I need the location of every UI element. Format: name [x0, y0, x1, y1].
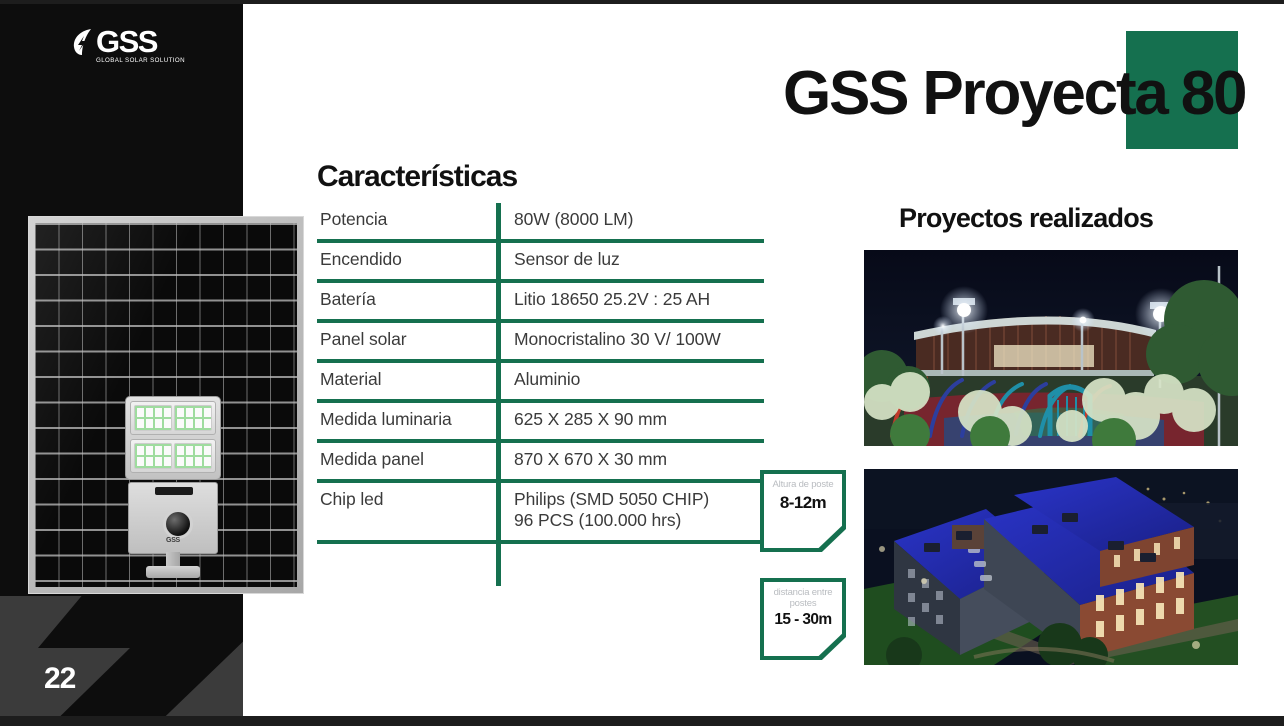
park-playground-night-photo: [864, 250, 1238, 446]
badge-label: distancia entre postes: [764, 588, 842, 609]
spec-key: Chip led: [317, 483, 496, 519]
logo-wordmark: GSS: [96, 28, 157, 56]
spec-key: Batería: [317, 283, 496, 319]
badge-label: Altura de poste: [773, 480, 834, 491]
spec-key: Encendido: [317, 243, 496, 279]
column-divider: [496, 243, 501, 279]
slide-canvas: GSS GLOBAL SOLAR SOLUTION 22: [0, 0, 1284, 726]
lightning-bolt-shape: [0, 596, 243, 726]
column-divider: [496, 363, 501, 399]
table-row: Medida panel 870 X 670 X 30 mm: [317, 443, 764, 483]
product-body-logo: GSS: [129, 537, 217, 544]
bottom-edge-strip: [0, 716, 1284, 726]
spec-value: 625 X 285 X 90 mm: [496, 403, 764, 439]
product-photo-solar-panel-street-light: GSS: [28, 216, 304, 600]
spec-value: Sensor de luz: [496, 243, 764, 279]
column-divider: [496, 443, 501, 479]
led-pane: [174, 443, 212, 469]
column-divider: [496, 403, 501, 439]
column-divider: [496, 283, 501, 319]
sidebar-bottom-panel: [0, 596, 243, 726]
table-row: Medida luminaria 625 X 285 X 90 mm: [317, 403, 764, 443]
column-divider: [496, 203, 501, 239]
logo-tagline: GLOBAL SOLAR SOLUTION: [96, 57, 185, 64]
table-row: Encendido Sensor de luz: [317, 243, 764, 283]
light-sensor-strip: [155, 487, 193, 495]
badge-value: 8-12m: [780, 493, 826, 513]
spec-value: Litio 18650 25.2V : 25 AH: [496, 283, 764, 319]
badge-content: distancia entre postes 15 - 30m: [764, 582, 842, 656]
page-title: GSS Proyecta80: [783, 60, 1245, 128]
table-row: Panel solar Monocristalino 30 V/ 100W: [317, 323, 764, 363]
spec-key: Potencia: [317, 203, 496, 239]
table-row: Chip led Philips (SMD 5050 CHIP) 96 PCS …: [317, 483, 764, 544]
apartment-complex-aerial-night-photo: [864, 469, 1238, 665]
leaf-bolt-icon: [72, 28, 94, 56]
table-row: Batería Litio 18650 25.2V : 25 AH: [317, 283, 764, 323]
table-tail-divider: [317, 544, 764, 586]
led-pane: [174, 405, 212, 431]
column-divider: [496, 323, 501, 359]
led-head: [125, 396, 221, 480]
spec-value: Philips (SMD 5050 CHIP) 96 PCS (100.000 …: [496, 483, 764, 540]
motion-sensor-dome: [163, 509, 193, 539]
led-luminaire: GSS: [122, 396, 224, 574]
luminaire-body: GSS: [128, 482, 218, 554]
spec-key: Medida panel: [317, 443, 496, 479]
spec-value: 80W (8000 LM): [496, 203, 764, 239]
led-pane: [134, 405, 172, 431]
top-edge-strip: [0, 0, 1284, 4]
led-module-top: [130, 401, 216, 435]
specs-heading: Características: [317, 160, 517, 194]
led-pane: [134, 443, 172, 469]
spec-value: Aluminio: [496, 363, 764, 399]
title-brand-text: GSS Proyecta: [783, 59, 1167, 128]
badge-value: 15 - 30m: [774, 611, 831, 629]
table-row: Material Aluminio: [317, 363, 764, 403]
table-row: Potencia 80W (8000 LM): [317, 203, 764, 243]
specs-table: Potencia 80W (8000 LM) Encendido Sensor …: [317, 203, 764, 586]
badge-content: Altura de poste 8-12m: [764, 474, 842, 548]
gss-logo: GSS GLOBAL SOLAR SOLUTION: [72, 28, 182, 72]
badge-pole-height: Altura de poste 8-12m: [760, 470, 846, 552]
projects-heading: Proyectos realizados: [899, 203, 1153, 234]
title-model-number: 80: [1181, 59, 1246, 128]
spec-key: Material: [317, 363, 496, 399]
column-divider: [496, 544, 501, 586]
led-module-bottom: [130, 439, 216, 473]
spec-key: Panel solar: [317, 323, 496, 359]
badge-pole-distance: distancia entre postes 15 - 30m: [760, 578, 846, 660]
spec-value: 870 X 670 X 30 mm: [496, 443, 764, 479]
spec-key: Medida luminaria: [317, 403, 496, 439]
mounting-base: [146, 566, 200, 578]
column-divider: [496, 483, 501, 540]
page-number: 22: [44, 662, 75, 696]
spec-value: Monocristalino 30 V/ 100W: [496, 323, 764, 359]
